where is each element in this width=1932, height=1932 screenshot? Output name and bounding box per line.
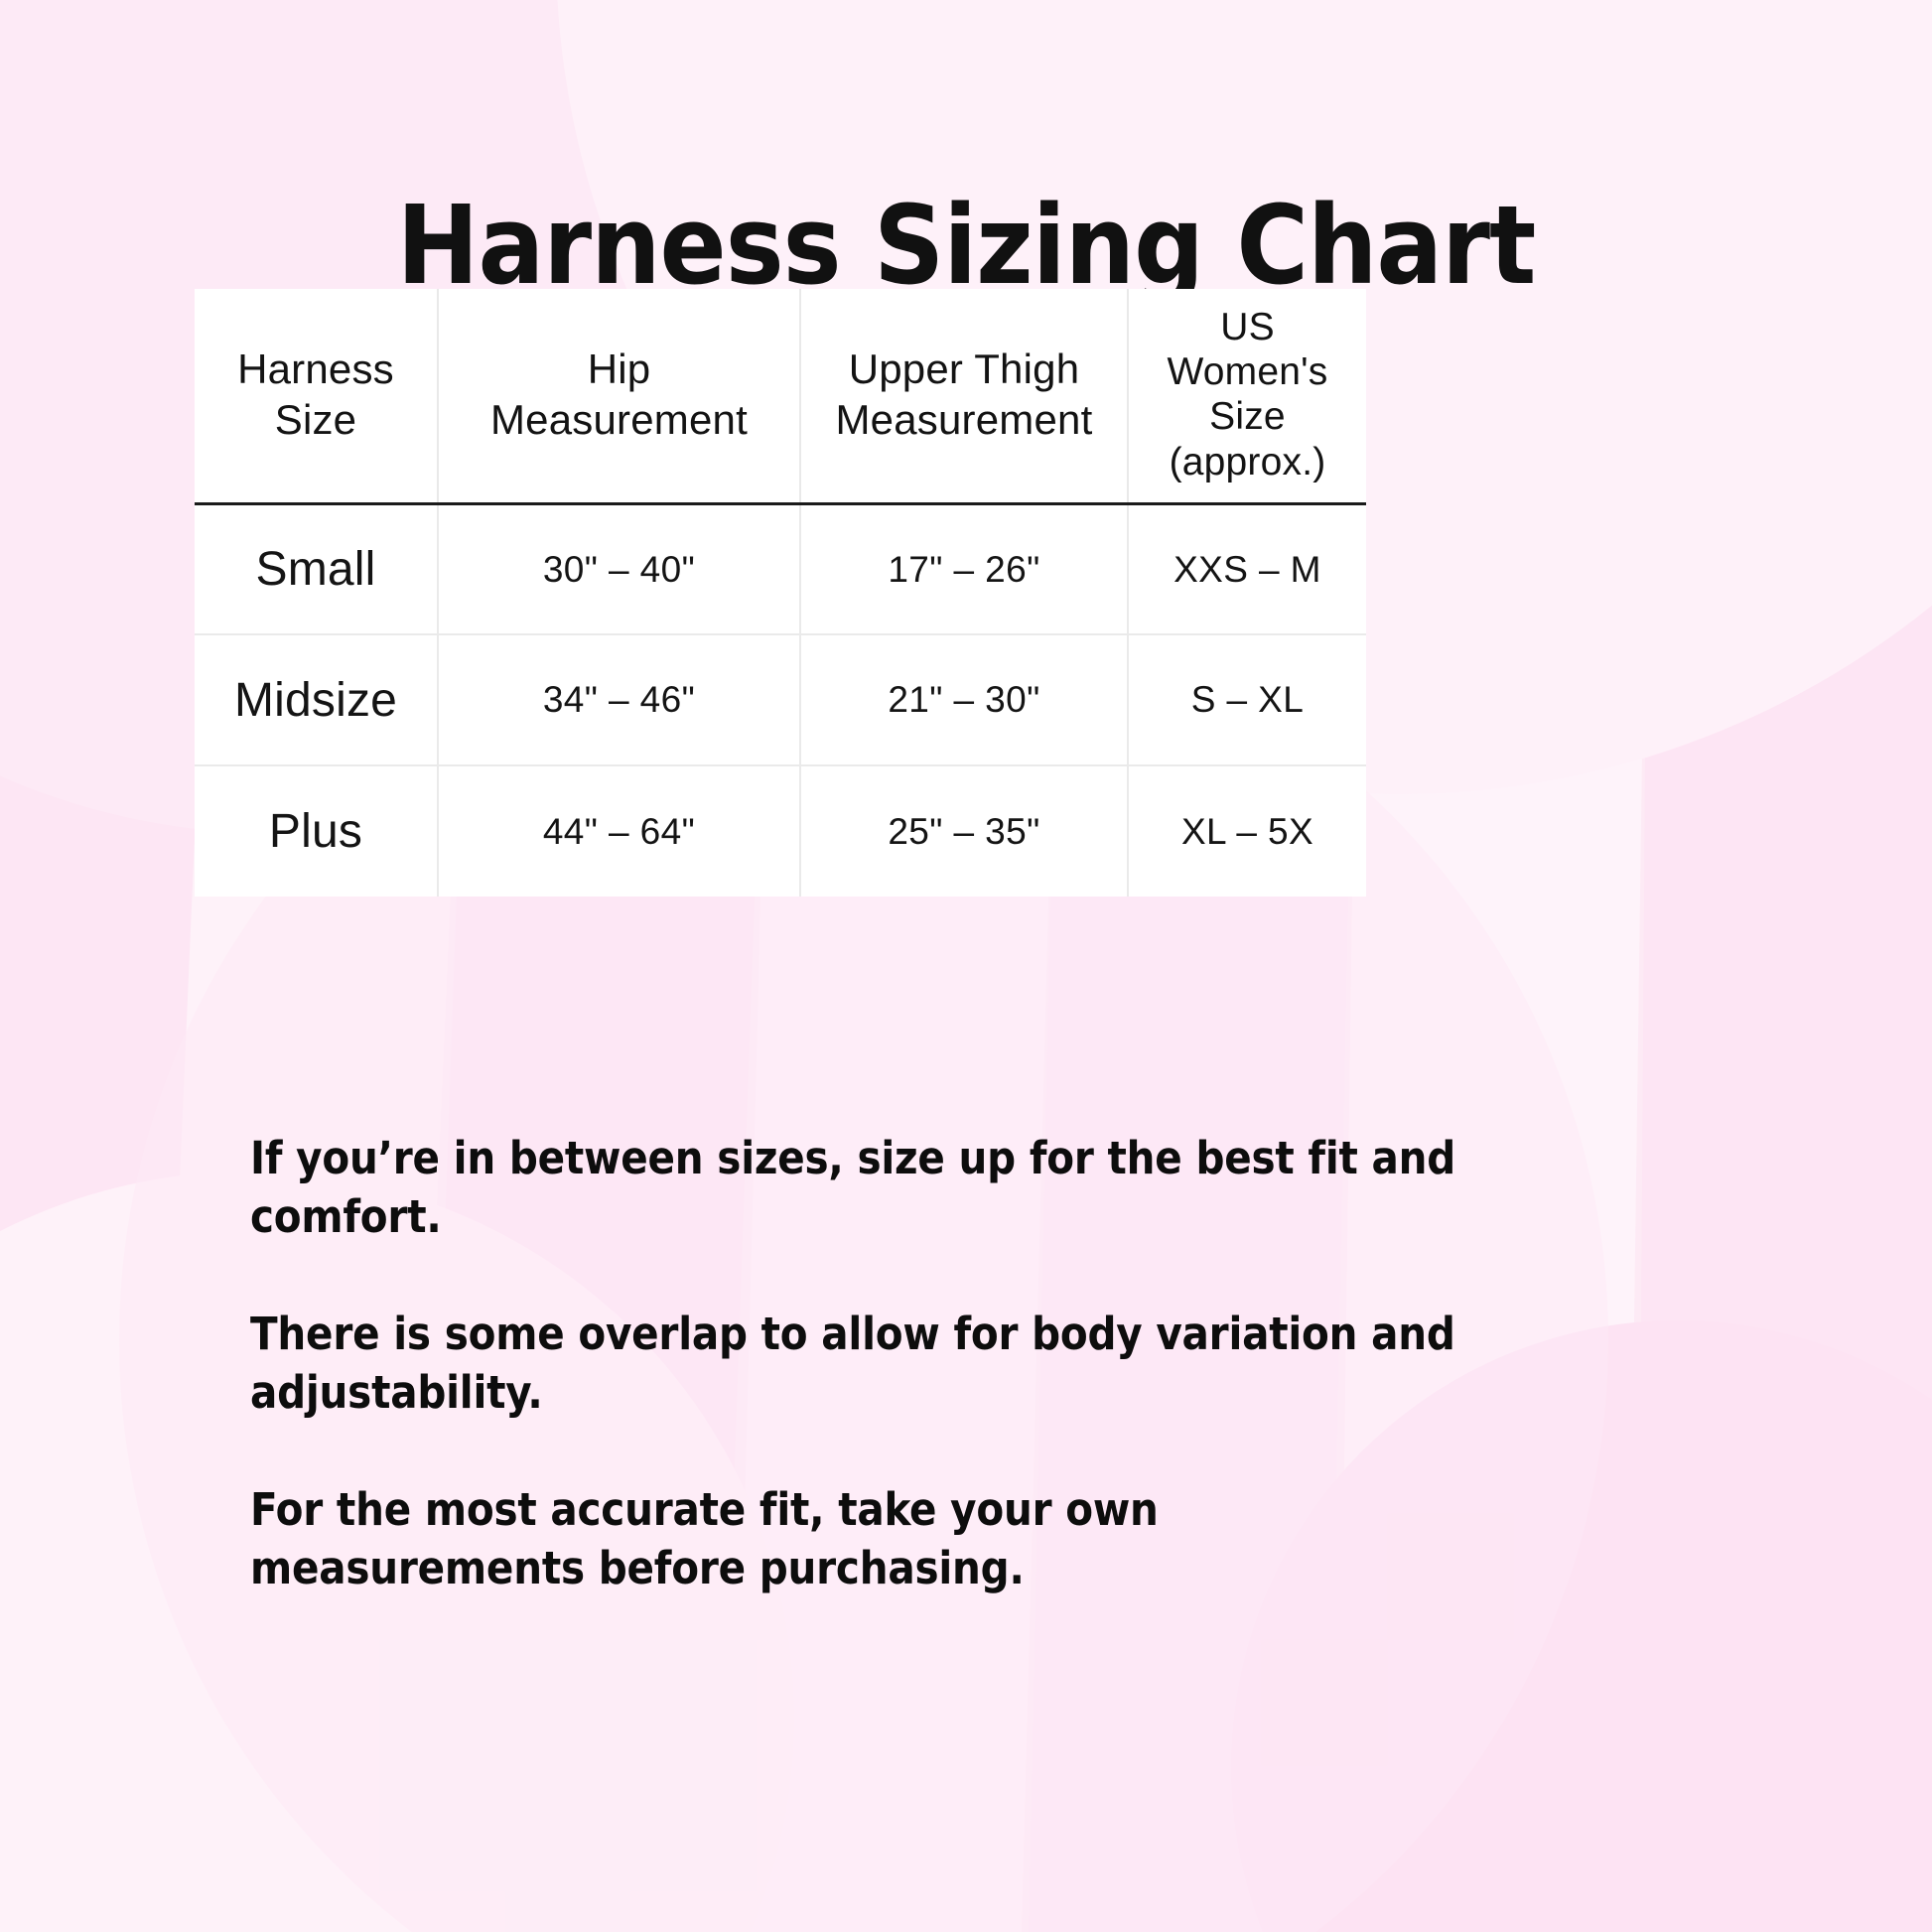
column-header-harness-size: Harness Size xyxy=(195,289,438,503)
cell-us-womens-size: S – XL xyxy=(1128,634,1366,765)
sizing-note-2: There is some overlap to allow for body … xyxy=(250,1306,1670,1422)
sizing-notes: If you’re in between sizes, size up for … xyxy=(250,1130,1690,1597)
table-header: Harness Size Hip Measurement Upper Thigh… xyxy=(195,289,1366,503)
table-row: Plus 44" – 64" 25" – 35" XL – 5X xyxy=(195,765,1366,897)
cell-us-womens-size: XL – 5X xyxy=(1128,765,1366,897)
table-row: Small 30" – 40" 17" – 26" XXS – M xyxy=(195,503,1366,634)
column-header-line: Size xyxy=(275,396,357,443)
cell-harness-size: Small xyxy=(195,503,438,634)
column-header-line: (approx.) xyxy=(1170,441,1326,483)
column-header-line: Size xyxy=(1209,395,1286,438)
column-header-line: Measurement xyxy=(836,396,1093,443)
cell-upper-thigh-measurement: 25" – 35" xyxy=(800,765,1128,897)
sizing-note-3: For the most accurate fit, take your own… xyxy=(250,1481,1362,1597)
column-header-line: US Women's xyxy=(1167,306,1327,393)
cell-harness-size: Midsize xyxy=(195,634,438,765)
sizing-table-container: Harness Size Hip Measurement Upper Thigh… xyxy=(195,289,1366,827)
cell-us-womens-size: XXS – M xyxy=(1128,503,1366,634)
column-header-line: Measurement xyxy=(490,396,748,443)
table-row: Midsize 34" – 46" 21" – 30" S – XL xyxy=(195,634,1366,765)
cell-harness-size: Plus xyxy=(195,765,438,897)
column-header-upper-thigh-measurement: Upper Thigh Measurement xyxy=(800,289,1128,503)
sizing-note-1: If you’re in between sizes, size up for … xyxy=(250,1130,1640,1246)
column-header-line: Harness xyxy=(237,345,394,392)
cell-hip-measurement: 44" – 64" xyxy=(438,765,800,897)
cell-hip-measurement: 34" – 46" xyxy=(438,634,800,765)
column-header-line: Upper Thigh xyxy=(849,345,1080,392)
table-body: Small 30" – 40" 17" – 26" XXS – M Midsiz… xyxy=(195,503,1366,897)
sizing-chart-page: Harness Sizing Chart Harness Size Hip Me… xyxy=(0,0,1932,1932)
page-title: Harness Sizing Chart xyxy=(0,191,1932,300)
column-header-us-womens-size: US Women's Size (approx.) xyxy=(1128,289,1366,503)
cell-hip-measurement: 30" – 40" xyxy=(438,503,800,634)
column-header-hip-measurement: Hip Measurement xyxy=(438,289,800,503)
column-header-line: Hip xyxy=(588,345,651,392)
cell-upper-thigh-measurement: 21" – 30" xyxy=(800,634,1128,765)
cell-upper-thigh-measurement: 17" – 26" xyxy=(800,503,1128,634)
table-header-row: Harness Size Hip Measurement Upper Thigh… xyxy=(195,289,1366,503)
harness-sizing-table: Harness Size Hip Measurement Upper Thigh… xyxy=(195,289,1366,897)
